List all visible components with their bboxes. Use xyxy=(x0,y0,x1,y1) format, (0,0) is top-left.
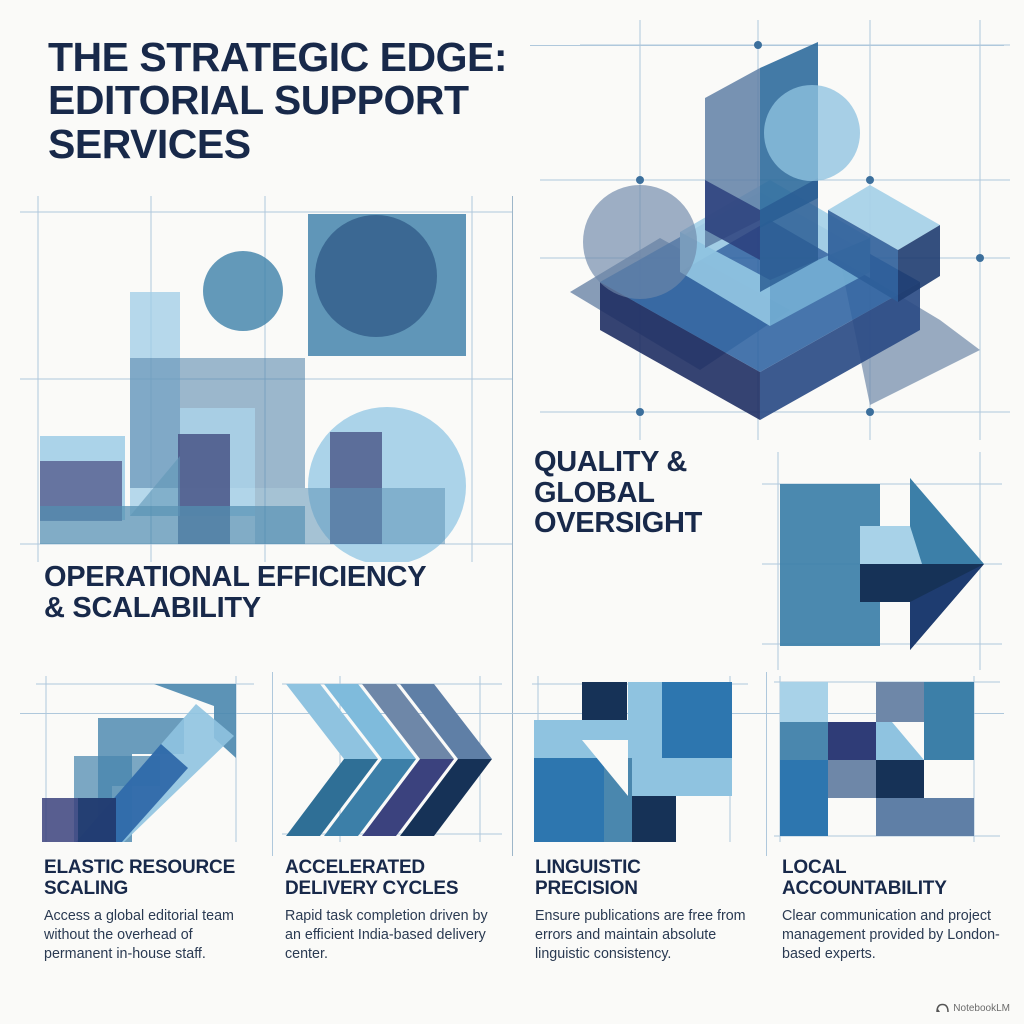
mosaic-blue-bottom-left xyxy=(534,758,606,842)
icon-mosaic-blocks xyxy=(532,676,762,842)
watermark-label: NotebookLM xyxy=(953,1003,1010,1014)
icon-chevrons-right xyxy=(282,676,518,842)
tile-r2c1 xyxy=(780,722,828,760)
tile-r3c1 xyxy=(780,760,828,798)
page-title: THE STRATEGIC EDGE: EDITORIAL SUPPORT SE… xyxy=(48,36,568,166)
tile-r1c3 xyxy=(876,682,924,722)
card-title-line-2: SCALING xyxy=(44,878,128,899)
illustration-abstract-blocks-and-circles xyxy=(20,196,512,562)
tile-r3c3 xyxy=(876,760,924,798)
grid-line-card-sep-1 xyxy=(272,672,273,856)
title-line-1: THE STRATEGIC EDGE: xyxy=(48,36,568,79)
iso-circle-top-right xyxy=(764,85,860,181)
card-accelerated-delivery-cycles: ACCELERATED DELIVERY CYCLES Rapid task c… xyxy=(285,858,500,965)
card-linguistic-precision: LINGUISTIC PRECISION Ensure publications… xyxy=(535,858,757,965)
arrow-right-icon xyxy=(762,452,1024,670)
tile-r1c1 xyxy=(780,682,828,722)
card-body: Rapid task completion driven by an effic… xyxy=(285,907,500,965)
tile-r1c4 xyxy=(924,682,974,760)
card-body: Access a global editorial team without t… xyxy=(44,907,256,965)
section-heading-line-1: QUALITY & xyxy=(534,447,764,478)
illustration-isometric-structure xyxy=(540,20,1024,440)
card-title-line-2: ACCOUNTABILITY xyxy=(782,878,947,899)
notebooklm-logo-icon xyxy=(936,1003,949,1014)
mosaic-light-vertical xyxy=(628,682,662,796)
section-heading-line-2: GLOBAL xyxy=(534,478,764,509)
card-title-line-1: ACCELERATED xyxy=(285,857,425,878)
title-line-3: SERVICES xyxy=(48,123,568,166)
section-heading-line-1: OPERATIONAL EFFICIENCY xyxy=(44,562,484,593)
section-heading-line-3: OVERSIGHT xyxy=(534,508,764,539)
card-body: Ensure publications are free from errors… xyxy=(535,907,757,965)
section-heading-quality-global-oversight: QUALITY & GLOBAL OVERSIGHT xyxy=(534,447,764,539)
tile-r4c3 xyxy=(876,798,974,836)
card-title-line-1: LINGUISTIC xyxy=(535,857,641,878)
card-title-line-2: PRECISION xyxy=(535,878,638,899)
card-local-accountability: LOCAL ACCOUNTABILITY Clear communication… xyxy=(782,858,1008,965)
tile-r2c2 xyxy=(828,722,876,760)
icon-tile-grid xyxy=(774,676,1018,842)
card-title: LOCAL ACCOUNTABILITY xyxy=(782,858,1008,900)
section-heading-line-2: & SCALABILITY xyxy=(44,593,484,624)
watermark: NotebookLM xyxy=(936,1003,1010,1014)
card-title-line-1: LOCAL xyxy=(782,857,846,878)
iso-circle-left xyxy=(583,185,697,299)
tile-r3c2 xyxy=(828,760,876,798)
card-title: ACCELERATED DELIVERY CYCLES xyxy=(285,858,500,900)
infographic-poster: THE STRATEGIC EDGE: EDITORIAL SUPPORT SE… xyxy=(0,0,1024,1024)
card-body: Clear communication and project manageme… xyxy=(782,907,1008,965)
grid-line-card-sep-2 xyxy=(766,672,767,856)
title-line-2: EDITORIAL SUPPORT xyxy=(48,79,568,122)
shape-circle-navy xyxy=(315,215,437,337)
shape-band-bottom-right xyxy=(255,488,445,544)
card-title: ELASTIC RESOURCE SCALING xyxy=(44,858,256,900)
mosaic-navy-bottom xyxy=(632,796,676,842)
tile-r4c1 xyxy=(780,798,828,836)
card-title: LINGUISTIC PRECISION xyxy=(535,858,757,900)
icon-growth-arrow xyxy=(36,676,266,842)
card-title-line-2: DELIVERY CYCLES xyxy=(285,878,458,899)
card-elastic-resource-scaling: ELASTIC RESOURCE SCALING Access a global… xyxy=(44,858,256,965)
mosaic-light-band-right xyxy=(660,758,732,796)
arrow-upper-wedge xyxy=(910,478,984,564)
growth-base-block-dark xyxy=(78,798,116,842)
shape-circle-steel xyxy=(203,251,283,331)
card-title-line-1: ELASTIC RESOURCE xyxy=(44,857,235,878)
section-heading-operational-efficiency: OPERATIONAL EFFICIENCY & SCALABILITY xyxy=(44,562,484,623)
mosaic-blue-top-right xyxy=(660,682,732,760)
